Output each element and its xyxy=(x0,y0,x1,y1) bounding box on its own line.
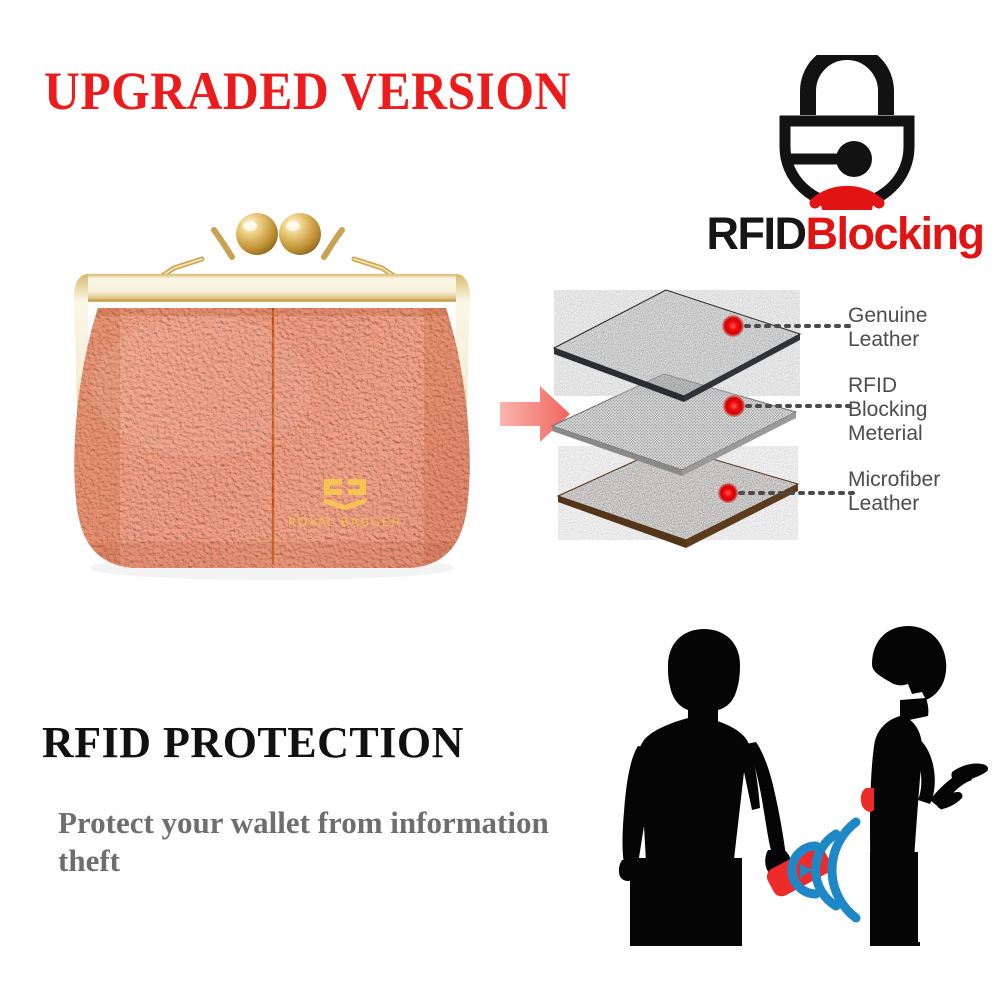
wallet-brand-text: ROYAL BAGGER xyxy=(288,517,402,529)
orange-kiss-lock-coin-purse: ROYAL BAGGER xyxy=(62,212,482,584)
genuine-leather-layer xyxy=(554,290,800,402)
rfid-blocking-badge: RFIDBlocking xyxy=(700,55,990,270)
wallet-frame xyxy=(88,274,456,302)
victim-silhouette xyxy=(870,626,988,946)
clasp-ball-left xyxy=(236,213,278,255)
clasp-ball-right xyxy=(279,213,321,255)
microfiber-marker-dot xyxy=(718,483,738,503)
layer-stack-illustration xyxy=(548,278,858,568)
layer-label-rfid-blocking-material: RFID Blocking Meterial xyxy=(848,374,927,446)
rfid-protection-subtitle: Protect your wallet from information the… xyxy=(58,804,558,880)
rfid-skimming-illustration xyxy=(600,612,1000,952)
rfid-material-marker-dot xyxy=(723,395,745,417)
rfid-protection-heading: RFID PROTECTION xyxy=(42,721,464,765)
rfid-wordmark-rfid: RFID xyxy=(706,208,805,259)
page-title: UPGRADED VERSION xyxy=(44,64,571,118)
layer-label-genuine-leather: Genuine Leather xyxy=(848,304,927,352)
padlock-rfid-icon xyxy=(755,55,940,210)
product-infographic: UPGRADED VERSION RFIDBlocking xyxy=(0,0,1000,1000)
victim-pocket-wallet xyxy=(861,788,874,812)
material-layer-diagram: Genuine Leather RFID Blocking Meterial M… xyxy=(548,278,1000,568)
wallet-leather-body xyxy=(62,292,482,582)
rfid-wordmark-blocking: Blocking xyxy=(805,208,983,259)
genuine-leather-marker-dot xyxy=(722,315,744,337)
rfid-blocking-wordmark: RFIDBlocking xyxy=(700,211,990,256)
thief-silhouette xyxy=(619,629,791,946)
layer-label-microfiber-leather: Microfiber Leather xyxy=(848,468,940,516)
